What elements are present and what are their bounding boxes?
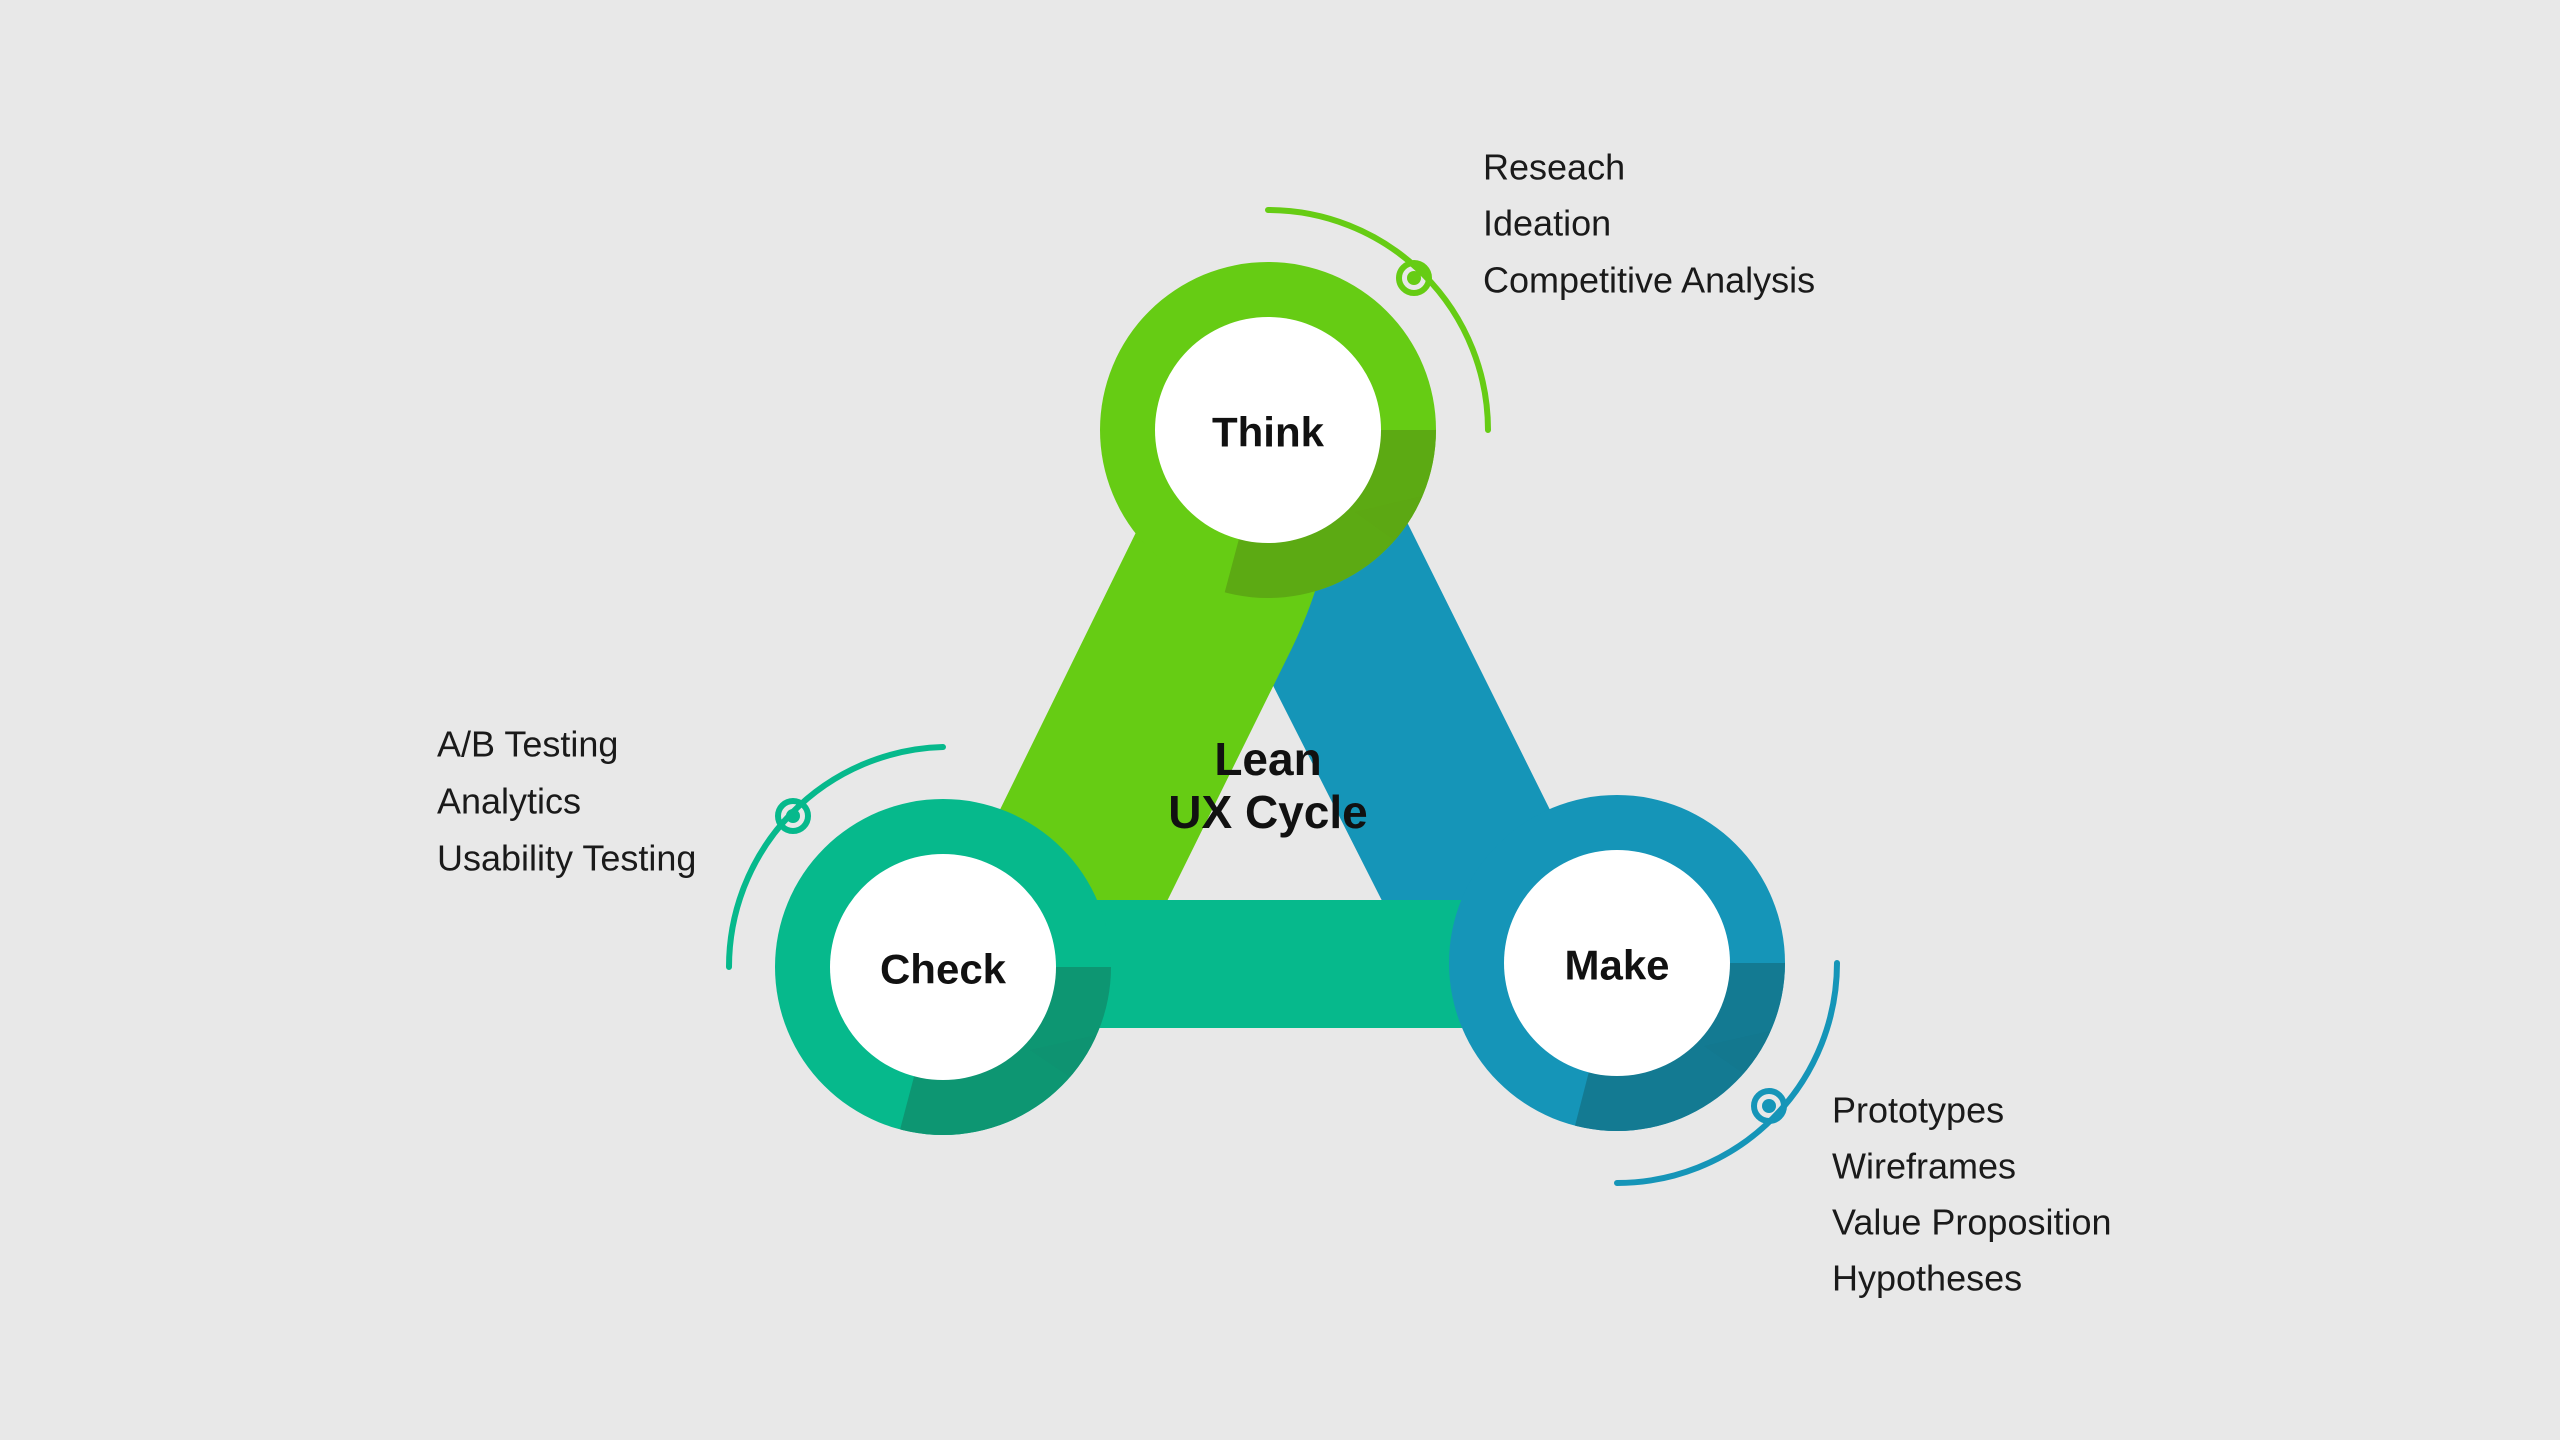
- think-callout-item-0: Reseach: [1483, 147, 1625, 188]
- make-callout-item-2: Value Proposition: [1832, 1202, 2112, 1243]
- check-callout-item-2: Usability Testing: [437, 838, 696, 879]
- center-title-line1: Lean: [1214, 733, 1321, 785]
- lean-ux-cycle-diagram: Think Check Make: [0, 0, 2560, 1440]
- make-callout-item-1: Wireframes: [1832, 1146, 2016, 1187]
- think-callout-item-2: Competitive Analysis: [1483, 260, 1815, 301]
- node-make-label: Make: [1564, 942, 1669, 989]
- check-callout-item-0: A/B Testing: [437, 724, 618, 765]
- make-callout-item-0: Prototypes: [1832, 1090, 2004, 1131]
- center-title-line2: UX Cycle: [1168, 786, 1367, 838]
- think-callout-item-1: Ideation: [1483, 203, 1611, 244]
- check-callout-marker-dot: [786, 809, 800, 823]
- make-callout-item-3: Hypotheses: [1832, 1258, 2022, 1299]
- think-callout-marker-dot: [1407, 271, 1421, 285]
- check-callout-item-1: Analytics: [437, 781, 581, 822]
- node-check-label: Check: [880, 946, 1007, 993]
- diagram-canvas: Think Check Make: [0, 0, 2560, 1440]
- make-callout-marker-dot: [1762, 1099, 1776, 1113]
- node-think-label: Think: [1212, 409, 1325, 456]
